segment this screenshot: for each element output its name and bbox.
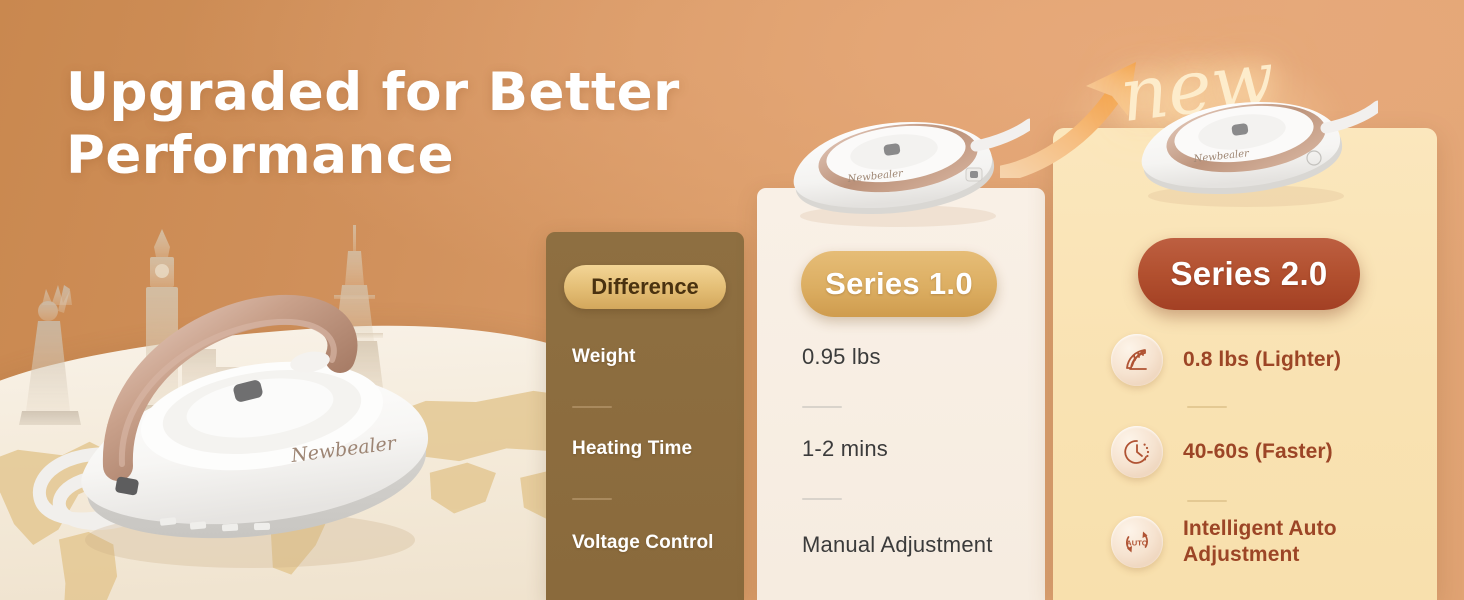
clock-icon: [1111, 426, 1163, 478]
divider: [572, 498, 612, 500]
divider: [1187, 500, 1227, 502]
series1-voltage-value: Manual Adjustment: [802, 532, 993, 558]
series2-weight-value: 0.8 lbs (Lighter): [1183, 347, 1341, 373]
feather-icon: [1111, 334, 1163, 386]
row-label-voltage-control: Voltage Control: [572, 532, 714, 554]
infographic-canvas: Newbealer new Upgraded f: [0, 0, 1464, 600]
hero-product-image: Newbealer: [10, 240, 480, 585]
divider: [572, 406, 612, 408]
series1-heating-value: 1-2 mins: [802, 436, 888, 462]
series1-weight-value: 0.95 lbs: [802, 344, 881, 370]
row-label-heating-time: Heating Time: [572, 438, 692, 460]
auto-adjust-icon: AUTO: [1111, 516, 1163, 568]
series1-badge: Series 1.0: [801, 251, 997, 317]
difference-column: Difference Weight Heating Time Voltage C…: [546, 232, 744, 600]
divider: [802, 406, 842, 408]
auto-label: AUTO: [1126, 539, 1147, 548]
series1-product-image: Newbealer: [780, 108, 1030, 228]
series2-product-image: Newbealer: [1128, 88, 1378, 208]
series1-column: Series 1.0 0.95 lbs 1-2 mins Manual Adju…: [757, 188, 1045, 600]
series2-voltage-value: Intelligent Auto Adjustment: [1183, 516, 1403, 569]
row-label-weight: Weight: [572, 346, 636, 368]
divider: [802, 498, 842, 500]
series2-heating-value: 40-60s (Faster): [1183, 439, 1333, 465]
difference-badge: Difference: [564, 265, 726, 309]
page-title: Upgraded for Better Performance: [66, 62, 706, 187]
divider: [1187, 406, 1227, 408]
series2-badge: Series 2.0: [1138, 238, 1360, 310]
